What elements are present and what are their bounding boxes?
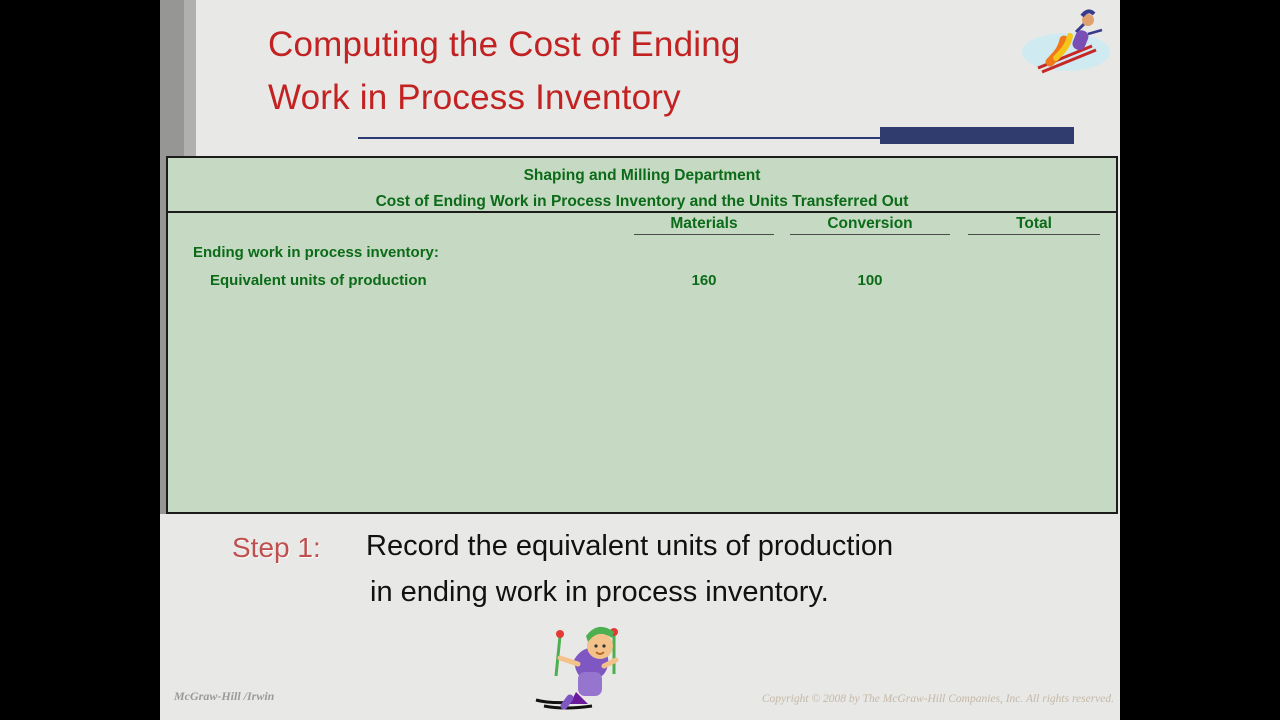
slide-title: Computing the Cost of Ending Work in Pro… xyxy=(268,18,968,124)
step-text-line-2: in ending work in process inventory. xyxy=(370,576,829,609)
cost-table-panel: Shaping and Milling Department Cost of E… xyxy=(166,156,1118,514)
table-cell-materials-equivalent-units: 160 xyxy=(634,272,774,289)
slide-title-line-2: Work in Process Inventory xyxy=(268,71,968,124)
footer-publisher: McGraw-Hill /Irwin xyxy=(174,689,274,704)
table-column-headers: Materials Conversion Total xyxy=(168,215,1116,243)
footer-copyright: Copyright © 2008 by The McGraw-Hill Comp… xyxy=(762,693,1114,705)
table-row-label-ending-wip: Ending work in process inventory: xyxy=(193,244,439,261)
skier-logo-icon xyxy=(1018,6,1114,80)
table-header-line-1: Shaping and Milling Department xyxy=(168,158,1116,189)
skiing-child-icon xyxy=(530,614,660,710)
step-callout-area: Step 1: Record the equivalent units of p… xyxy=(160,514,1120,720)
step-label: Step 1: xyxy=(232,532,321,564)
column-header-conversion: Conversion xyxy=(790,215,950,235)
table-row-label-equivalent-units: Equivalent units of production xyxy=(210,272,427,289)
column-header-total: Total xyxy=(968,215,1100,235)
title-accent-block xyxy=(880,127,1074,144)
table-header-divider xyxy=(168,211,1116,213)
column-header-materials: Materials xyxy=(634,215,774,235)
table-cell-conversion-equivalent-units: 100 xyxy=(790,272,950,289)
slide-canvas: Computing the Cost of Ending Work in Pro… xyxy=(160,0,1120,720)
slide-title-line-1: Computing the Cost of Ending xyxy=(268,18,968,71)
step-text-line-1: Record the equivalent units of productio… xyxy=(366,530,893,563)
presentation-slide-stage: Computing the Cost of Ending Work in Pro… xyxy=(0,0,1280,720)
